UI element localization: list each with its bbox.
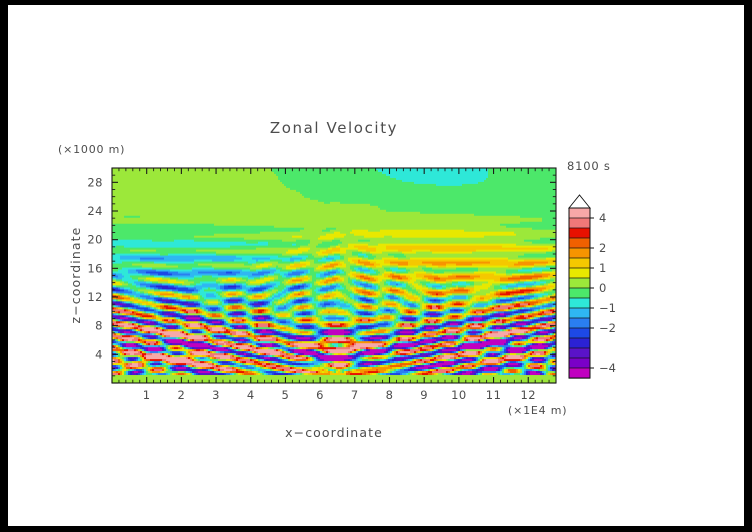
colorbar-tick-label: −2 <box>599 321 616 335</box>
colorbar-band <box>569 228 590 238</box>
figure-canvas: Zonal Velocity (×1000 m) (×1E4 m) 8100 s… <box>8 5 744 526</box>
colorbar-band <box>569 358 590 368</box>
velocity-field-heatmap <box>112 168 556 383</box>
colorbar-tick-label: 0 <box>599 281 606 295</box>
plot-svg: Zonal Velocity (×1000 m) (×1E4 m) 8100 s… <box>8 5 744 526</box>
y-axis-unit-label: (×1000 m) <box>58 143 125 156</box>
colorbar-tick-label: 4 <box>599 211 606 225</box>
y-tick-label: 20 <box>87 233 103 247</box>
colorbar-band <box>569 328 590 338</box>
x-tick-label: 7 <box>351 388 359 402</box>
colorbar-band <box>569 208 590 218</box>
colorbar-band <box>569 258 590 268</box>
x-axis-unit-label: (×1E4 m) <box>508 404 567 417</box>
colorbar-band <box>569 348 590 358</box>
x-tick-label: 1 <box>143 388 151 402</box>
colorbar-tick-label: 2 <box>599 241 606 255</box>
x-tick-label: 9 <box>420 388 428 402</box>
colorbar-band <box>569 248 590 258</box>
colorbar-tick-label: −4 <box>599 361 616 375</box>
colorbar-band <box>569 318 590 328</box>
y-tick-label: 8 <box>95 319 103 333</box>
y-tick-label: 24 <box>87 204 103 218</box>
colorbar-band <box>569 218 590 228</box>
y-axis-title: z−coordinate <box>68 227 83 324</box>
colorbar-band <box>569 368 590 378</box>
colorbar-band <box>569 338 590 348</box>
y-tick-label: 12 <box>87 290 103 304</box>
y-tick-label: 4 <box>95 347 103 361</box>
page-title: Zonal Velocity <box>270 119 398 137</box>
y-tick-label: 16 <box>87 261 103 275</box>
x-tick-label: 12 <box>520 388 536 402</box>
colorbar-band <box>569 288 590 298</box>
colorbar-band <box>569 278 590 288</box>
x-axis-title: x−coordinate <box>285 425 383 440</box>
x-tick-label: 3 <box>212 388 220 402</box>
time-stamp: 8100 s <box>567 159 611 173</box>
x-tick-label: 5 <box>281 388 289 402</box>
x-tick-label: 4 <box>247 388 255 402</box>
x-tick-label: 10 <box>451 388 467 402</box>
colorbar-band <box>569 268 590 278</box>
colorbar-band <box>569 298 590 308</box>
colorbar-band <box>569 238 590 248</box>
x-tick-label: 11 <box>486 388 502 402</box>
colorbar-band <box>569 308 590 318</box>
x-tick-label: 6 <box>316 388 324 402</box>
x-tick-label: 2 <box>177 388 185 402</box>
x-tick-label: 8 <box>386 388 394 402</box>
colorbar-tick-label: −1 <box>599 301 616 315</box>
y-tick-label: 28 <box>87 175 103 189</box>
colorbar-tick-label: 1 <box>599 261 606 275</box>
